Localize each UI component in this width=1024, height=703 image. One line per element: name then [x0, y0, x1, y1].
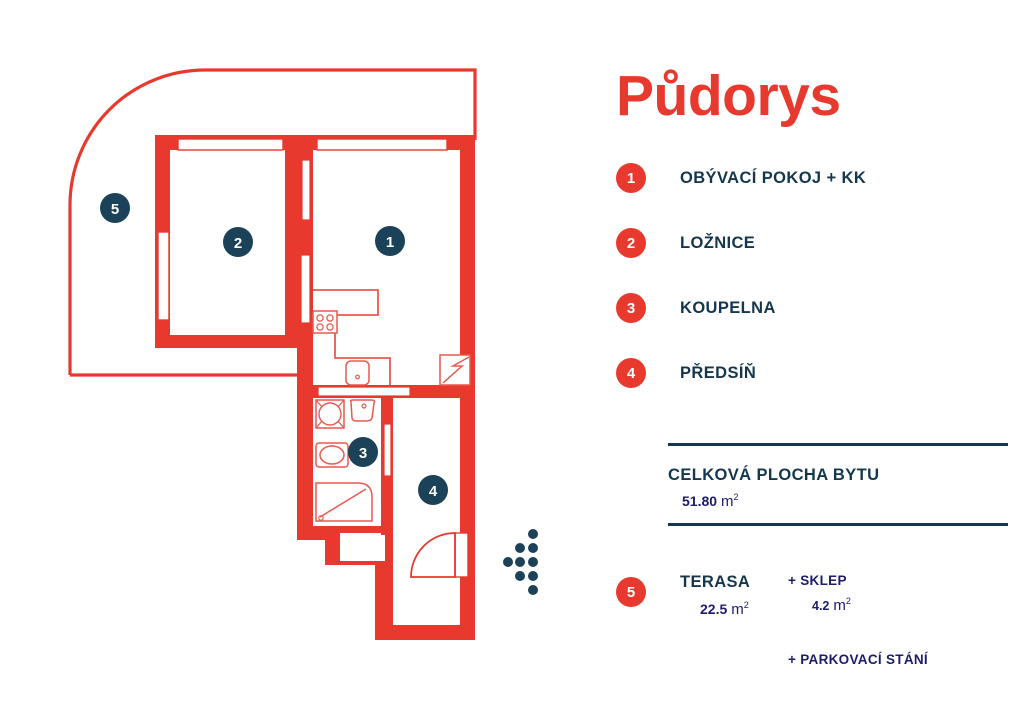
stove — [313, 311, 337, 333]
extra-value-sklep: 4.2 — [812, 599, 829, 613]
extra-value-sklep-row: 4.2m2 — [812, 596, 928, 614]
room-marker-4: 4 — [418, 475, 448, 505]
total-area-block: CELKOVÁ PLOCHA BYTU 51.80m2 — [668, 466, 879, 510]
window-living-left — [302, 160, 310, 220]
legend-badge-2: 2 — [616, 228, 646, 258]
legend-label-2: LOŽNICE — [680, 234, 755, 253]
legend-item-3[interactable]: 3 KOUPELNA — [616, 290, 1008, 326]
extra-label-sklep: + SKLEP — [788, 573, 928, 588]
floor-plan-drawing: 5 2 1 3 4 — [0, 0, 600, 703]
page-title: Půdorys — [616, 68, 841, 125]
extra-label-parking: + PARKOVACÍ STÁNÍ — [788, 652, 928, 667]
room-marker-3: 3 — [348, 437, 378, 467]
room-floor-hallway — [393, 398, 460, 625]
total-area-unit: m2 — [721, 493, 739, 510]
divider-top — [668, 443, 1008, 446]
room-marker-3-label: 3 — [359, 445, 367, 462]
room-legend: 1 OBÝVACÍ POKOJ + KK 2 LOŽNICE 3 KOUPELN… — [616, 160, 1008, 420]
legend-label-4: PŘEDSÍŇ — [680, 364, 756, 383]
room-marker-5-label: 5 — [111, 201, 119, 218]
legend-badge-1: 1 — [616, 163, 646, 193]
door-bedroom-terrace — [158, 232, 169, 320]
divider-bottom — [668, 523, 1008, 526]
entry-door-leaf — [455, 533, 468, 577]
kitchen-sink — [346, 361, 369, 385]
legend-item-4[interactable]: 4 PŘEDSÍŇ — [616, 355, 1008, 391]
room-marker-1: 1 — [375, 226, 405, 256]
total-area-value: 51.80 — [682, 493, 717, 509]
room-marker-2: 2 — [223, 227, 253, 257]
extras-block: + SKLEP 4.2m2 + PARKOVACÍ STÁNÍ — [788, 573, 928, 667]
total-area-value-row: 51.80m2 — [682, 492, 879, 510]
door-bathroom — [384, 424, 391, 476]
room-marker-5: 5 — [100, 193, 130, 223]
legend-item-2[interactable]: 2 LOŽNICE — [616, 225, 1008, 261]
info-panel: Půdorys 1 OBÝVACÍ POKOJ + KK 2 LOŽNICE 3… — [608, 0, 1008, 703]
room-marker-1-label: 1 — [386, 234, 394, 251]
terrace-value: 22.5 — [700, 601, 727, 617]
extra-unit-sklep: m2 — [833, 597, 851, 614]
floor-plan-page: 5 2 1 3 4 — [0, 0, 1024, 703]
room-marker-4-label: 4 — [429, 483, 438, 500]
window-bedroom-top — [178, 139, 283, 150]
room-marker-2-label: 2 — [234, 235, 242, 252]
door-living-hall — [318, 387, 410, 396]
entrance-dotted-arrow — [503, 529, 538, 595]
terrace-badge: 5 — [616, 577, 646, 607]
window-living-top — [317, 139, 447, 150]
legend-label-1: OBÝVACÍ POKOJ + KK — [680, 169, 866, 188]
total-area-label: CELKOVÁ PLOCHA BYTU — [668, 466, 879, 485]
terrace-block: 5 TERASA 22.5m2 — [616, 573, 750, 618]
terrace-unit: m2 — [731, 601, 749, 618]
terrace-label: TERASA — [680, 573, 750, 592]
washbasin — [350, 400, 374, 421]
door-bedroom-living — [301, 255, 310, 323]
terrace-value-row: 22.5m2 — [700, 600, 750, 618]
legend-badge-4: 4 — [616, 358, 646, 388]
legend-label-3: KOUPELNA — [680, 299, 776, 318]
legend-badge-3: 3 — [616, 293, 646, 323]
legend-item-1[interactable]: 1 OBÝVACÍ POKOJ + KK — [616, 160, 1008, 196]
hallway-niche — [340, 533, 385, 561]
